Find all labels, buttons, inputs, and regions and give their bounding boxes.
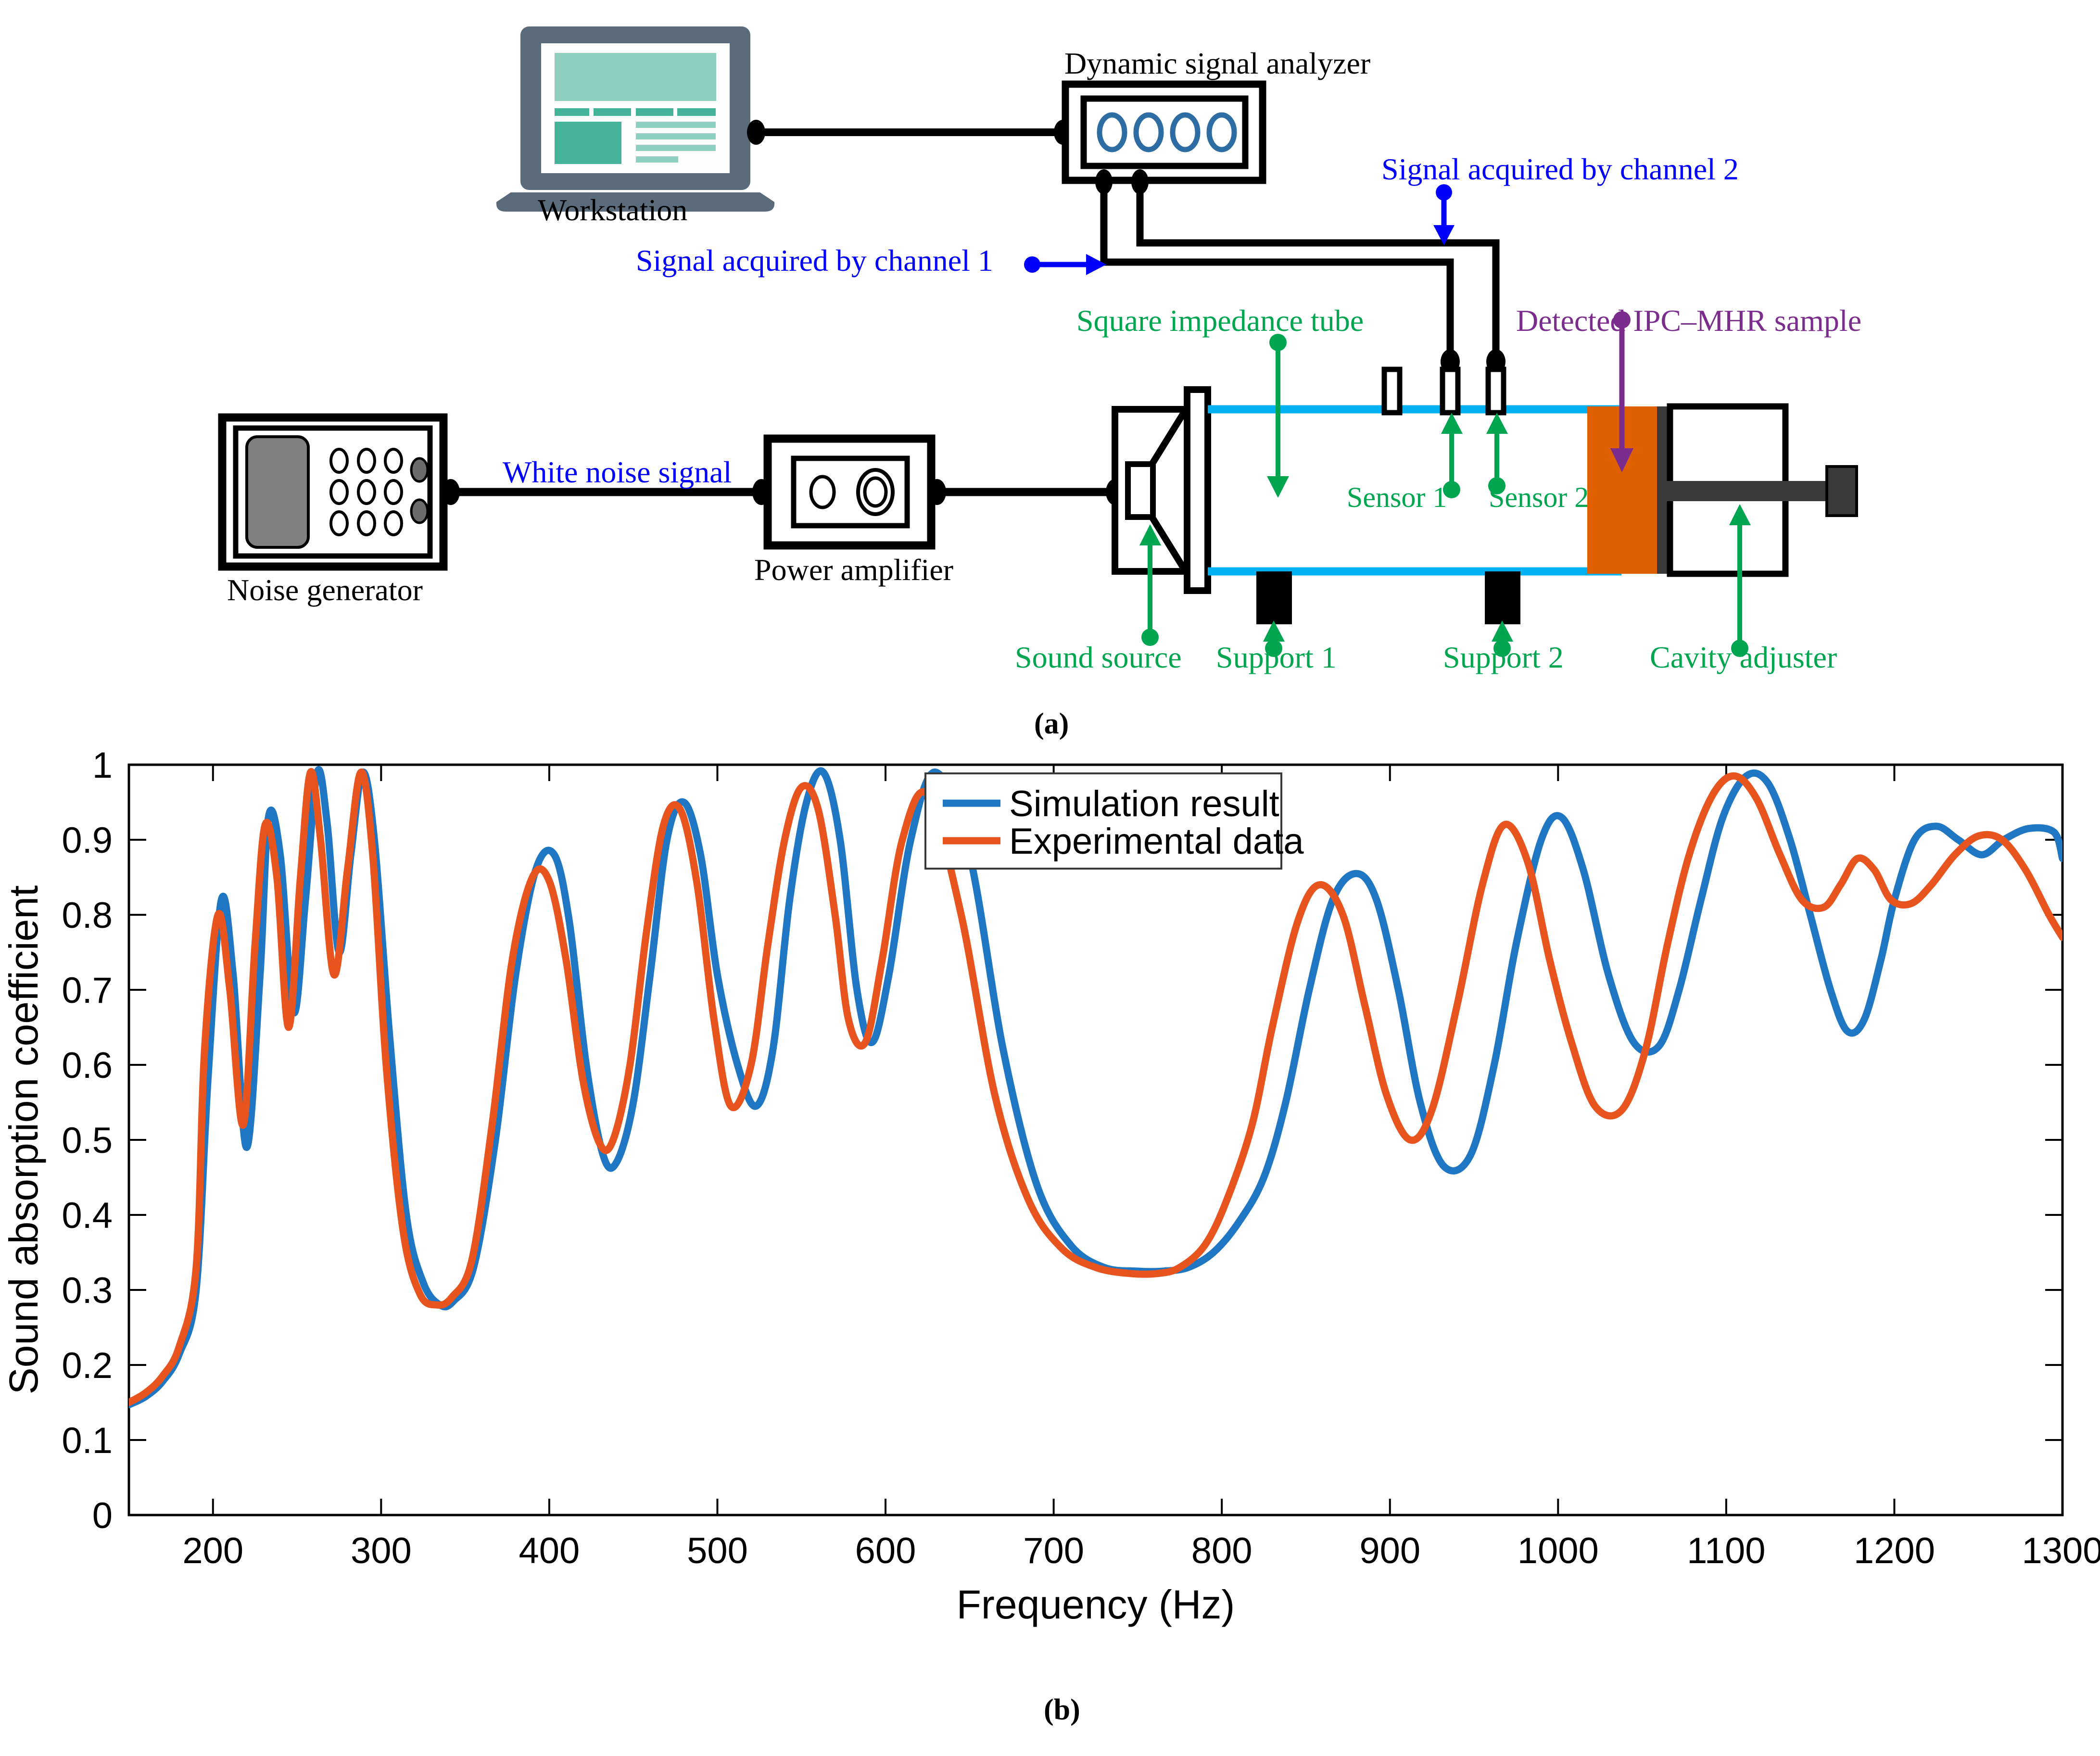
support-2-block <box>1485 571 1520 624</box>
noise-generator-button-2[interactable] <box>358 449 375 472</box>
y-tick-label: 0.3 <box>62 1270 113 1311</box>
noise-generator-button-4[interactable] <box>331 480 347 504</box>
label-support-1: Support 1 <box>1216 640 1337 675</box>
noise-generator-indicator-1 <box>411 458 428 481</box>
x-tick-label: 200 <box>182 1530 243 1571</box>
sensor-ports <box>1384 369 1504 413</box>
power-amplifier-device <box>768 439 931 545</box>
annotation-arrowhead-sensor-1 <box>1441 413 1463 434</box>
power-amplifier-knob-small[interactable] <box>811 477 834 507</box>
workstation-laptop <box>496 26 774 212</box>
y-tick-label: 0.6 <box>62 1045 113 1086</box>
x-tick-label: 1300 <box>2022 1530 2100 1571</box>
noise-generator-button-5[interactable] <box>358 480 375 504</box>
cavity-adjuster-handle <box>1827 467 1857 516</box>
noise-generator-button-1[interactable] <box>331 449 347 472</box>
noise-generator-button-3[interactable] <box>385 449 402 472</box>
panel-b-caption: (b) <box>1044 1693 1080 1727</box>
label-dynamic-signal-analyzer: Dynamic signal analyzer <box>1064 46 1370 81</box>
sound-source-speaker <box>1115 390 1208 591</box>
noise-generator-button-8[interactable] <box>358 512 375 535</box>
annotation-channel-2 <box>1433 184 1455 245</box>
plot-frame <box>129 765 2062 1515</box>
laptop-screen-hero-block <box>555 53 716 101</box>
y-tick-label: 0 <box>92 1495 113 1536</box>
laptop-screen-nav-1 <box>555 108 589 116</box>
speaker-magnet <box>1128 464 1153 517</box>
y-axis-title: Sound absorption coefficient <box>1 885 46 1395</box>
power-amplifier-knob-large-inner[interactable] <box>865 478 886 506</box>
x-tick-label: 300 <box>351 1530 412 1571</box>
label-cavity-adjuster: Cavity adjuster <box>1650 640 1837 675</box>
laptop-screen-text-line-2 <box>636 133 716 139</box>
y-tick-label: 0.4 <box>62 1195 113 1236</box>
annotation-arrowhead-tube <box>1267 476 1289 498</box>
sample-and-cavity-assembly <box>1587 406 1857 574</box>
label-power-amplifier: Power amplifier <box>754 552 953 588</box>
x-tick-label: 900 <box>1359 1530 1420 1571</box>
noise-generator-button-6[interactable] <box>385 480 402 504</box>
connector-dot-noisegen <box>442 479 460 505</box>
laptop-screen-text-line-3 <box>636 145 716 151</box>
empty-port <box>1384 369 1400 413</box>
laptop-screen-image-block <box>555 122 621 164</box>
speaker-flange <box>1187 390 1208 591</box>
x-tick-label: 700 <box>1023 1530 1084 1571</box>
label-support-2: Support 2 <box>1443 640 1564 675</box>
figure-root: Workstation Dynamic signal analyzer Sign… <box>0 0 2100 1756</box>
analyzer-panel <box>1084 99 1245 166</box>
noise-generator-device <box>222 417 443 567</box>
label-detected-sample: Detected IPC–MHR sample <box>1516 303 1861 339</box>
panel-a-caption: (a) <box>1034 707 1069 741</box>
x-tick-label: 1200 <box>1854 1530 1935 1571</box>
label-sound-source: Sound source <box>1015 640 1182 675</box>
label-square-impedance-tube: Square impedance tube <box>1076 303 1364 339</box>
laptop-screen-nav-2 <box>594 108 631 116</box>
label-signal-channel-1: Signal acquired by channel 1 <box>636 243 993 278</box>
cavity-adjuster-rod <box>1663 481 1827 501</box>
noise-generator-button-9[interactable] <box>385 512 402 535</box>
legend-label-1: Experimental data <box>1009 821 1304 862</box>
connector-dot-amp-out <box>928 479 946 505</box>
noise-generator-display <box>247 437 308 547</box>
label-signal-channel-2: Signal acquired by channel 2 <box>1381 152 1739 187</box>
y-tick-label: 0.1 <box>62 1420 113 1461</box>
legend-label-0: Simulation result <box>1009 783 1279 824</box>
laptop-screen-nav-4 <box>677 108 716 116</box>
annotation-arrowhead-sensor-2 <box>1486 413 1508 434</box>
x-tick-label: 600 <box>855 1530 916 1571</box>
cable-workstation-to-analyzer <box>747 120 1072 145</box>
panel-a-schematic <box>0 0 2100 721</box>
laptop-screen-text-line-4 <box>636 156 678 163</box>
laptop-screen-text-line-1 <box>636 122 716 128</box>
noise-generator-button-7[interactable] <box>331 512 347 535</box>
connector-dot-left <box>747 120 765 145</box>
y-tick-label: 0.5 <box>62 1120 113 1161</box>
annotation-channel-1 <box>1024 254 1106 275</box>
laptop-screen-nav-3 <box>636 108 673 116</box>
label-sensor-1: Sensor 1 <box>1347 481 1447 514</box>
support-1-block <box>1256 571 1292 624</box>
y-tick-label: 0.7 <box>62 970 113 1011</box>
sensor-2-port <box>1488 369 1504 413</box>
x-tick-label: 400 <box>519 1530 580 1571</box>
dynamic-signal-analyzer-device <box>1065 84 1263 180</box>
x-axis-title: Frequency (Hz) <box>957 1582 1235 1627</box>
tube-supports <box>1256 571 1520 624</box>
label-workstation: Workstation <box>538 192 687 228</box>
panel-b-chart: 2003004005006007008009001000110012001300… <box>0 745 2100 1756</box>
x-tick-label: 500 <box>687 1530 748 1571</box>
noise-generator-indicator-2 <box>411 500 428 523</box>
y-tick-label: 1 <box>92 745 113 786</box>
y-tick-label: 0.9 <box>62 820 113 861</box>
x-tick-label: 800 <box>1191 1530 1252 1571</box>
y-tick-label: 0.8 <box>62 895 113 936</box>
x-tick-label: 1000 <box>1518 1530 1599 1571</box>
sensor-1-port <box>1442 369 1458 413</box>
chart-plot-area: 2003004005006007008009001000110012001300… <box>1 745 2100 1627</box>
cable-amplifier-to-speaker <box>928 479 1124 505</box>
label-noise-generator: Noise generator <box>227 572 423 608</box>
label-white-noise-signal: White noise signal <box>503 455 732 490</box>
y-tick-label: 0.2 <box>62 1345 113 1386</box>
x-tick-label: 1100 <box>1687 1530 1765 1571</box>
label-sensor-2: Sensor 2 <box>1489 481 1589 514</box>
